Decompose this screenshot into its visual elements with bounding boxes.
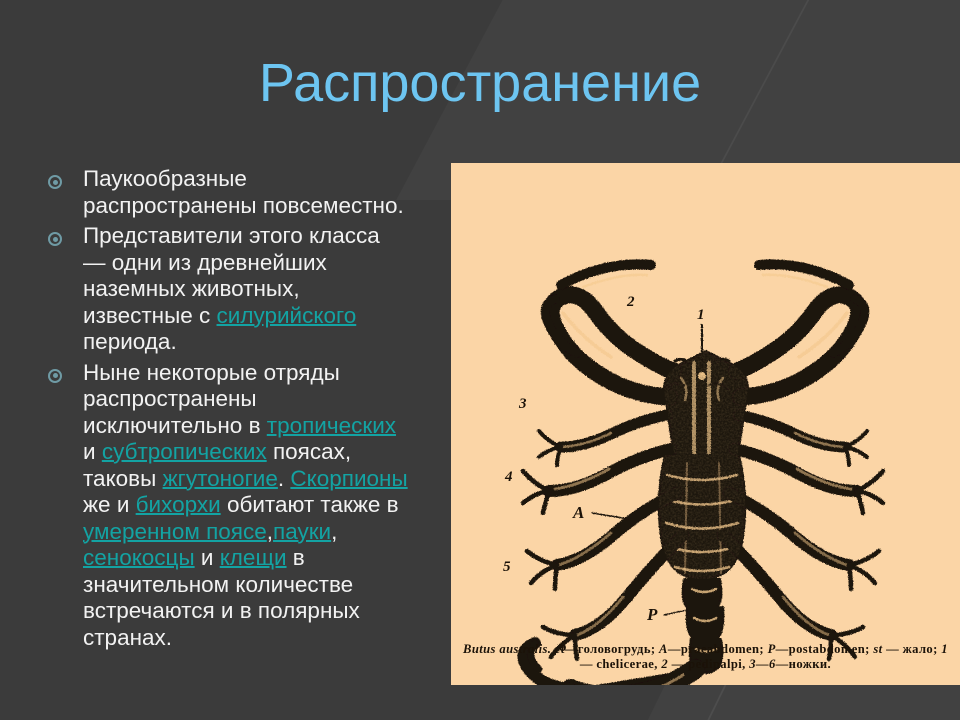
caption-ct-def: —головогрудь; [565,642,656,656]
caption-st-def: — жало; [883,642,938,656]
caption-p-def: postabdomen; [789,642,870,656]
text-run: . [278,466,291,491]
caption-abbr-st: st [873,642,882,656]
caption-num-3-6: 3—6 [749,657,775,671]
caption-species: Butus australis. [463,642,551,656]
hyperlink[interactable]: бихорхи [136,492,221,517]
bullet-list: Паукообразные распространены повсеместно… [48,166,408,655]
text-run: же и [83,492,136,517]
bullet-target-icon [48,232,62,246]
hyperlink[interactable]: пауки [273,519,331,544]
caption-2-def: — pedipalpi, [668,657,746,671]
text-run: и [195,545,220,570]
slide-title: Распространение [60,52,900,114]
presentation-slide: Распространение Паукообразные распростра… [0,0,960,720]
text-run: периода. [83,329,177,354]
list-item: Паукообразные распространены повсеместно… [48,166,408,219]
plate-label-3: 3 [518,396,527,412]
plate-label-2: 2 [626,294,635,310]
plate-label-P: P [646,605,658,624]
caption-3-6-def: —ножки. [776,657,831,671]
caption-p-dash: — [776,642,789,656]
caption-a-def: —praeabdomen; [668,642,764,656]
caption-num-1: 1 [941,642,948,656]
bullet-3-text: Ныне некоторые отряды распространены иск… [83,360,408,652]
plate-label-1: 1 [697,307,705,323]
bullet-1-text: Паукообразные распространены повсеместно… [83,166,408,219]
caption-abbr-ct: ct [555,642,565,656]
hyperlink[interactable]: Скорпионы [290,466,407,491]
list-item: Представители этого класса — одни из дре… [48,223,408,356]
bullet-2-text: Представители этого класса — одни из дре… [83,223,408,356]
caption-abbr-a: A [659,642,668,656]
hyperlink[interactable]: тропических [267,413,396,438]
text-run: , [331,519,337,544]
text-run: и [83,439,102,464]
caption-1-def: — chelicerae, [580,657,658,671]
plate-label-5: 5 [503,559,511,575]
plate-caption: Butus australis. ct—головогрудь; A—praea… [459,642,952,671]
scorpion-engraving-drawing: 1 2 3 4 5 6 A P st [451,163,960,685]
hyperlink[interactable]: клещи [220,545,287,570]
plate-label-A: A [572,503,584,522]
caption-abbr-p: P [768,642,776,656]
hyperlink[interactable]: сенокосцы [83,545,195,570]
text-run: Паукообразные распространены повсеместно… [83,166,404,218]
list-item: Ныне некоторые отряды распространены иск… [48,360,408,652]
plate-label-4: 4 [504,469,513,485]
hyperlink[interactable]: субтропических [102,439,267,464]
bullet-target-icon [48,369,62,383]
bullet-target-icon [48,175,62,189]
scorpion-illustration: 1 2 3 4 5 6 A P st Butus australis. ct—г… [451,163,960,685]
hyperlink[interactable]: умеренном поясе [83,519,267,544]
hyperlink[interactable]: силурийского [217,303,357,328]
hyperlink[interactable]: жгутоногие [163,466,278,491]
text-run: обитают также в [221,492,399,517]
